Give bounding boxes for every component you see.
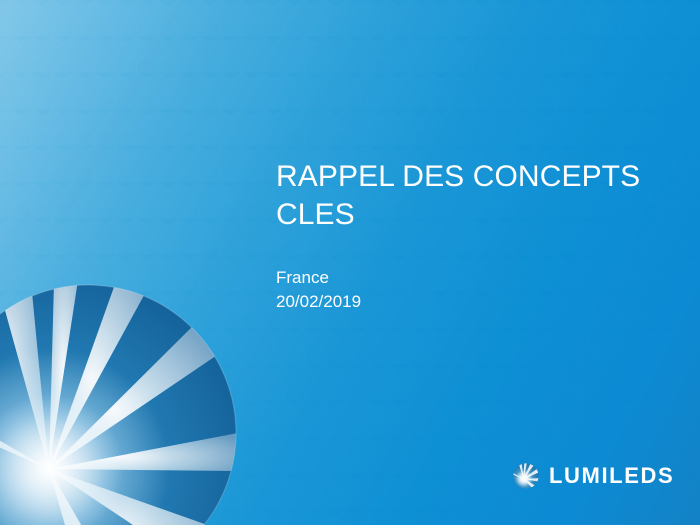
radiating-sphere-graphic [0,283,238,525]
lumileds-sphere-burst-icon [512,462,540,490]
slide-text-block: RAPPEL DES CONCEPTS CLES France 20/02/20… [276,158,676,314]
subtitle-location: France [276,266,676,290]
slide-subtitle: France 20/02/2019 [276,266,676,314]
logo-wordmark: LUMILEDS [549,465,674,487]
brand-logo: LUMILEDS [512,462,674,490]
subtitle-date: 20/02/2019 [276,290,676,314]
title-slide: RAPPEL DES CONCEPTS CLES France 20/02/20… [0,0,700,525]
page-title: RAPPEL DES CONCEPTS CLES [276,158,676,234]
